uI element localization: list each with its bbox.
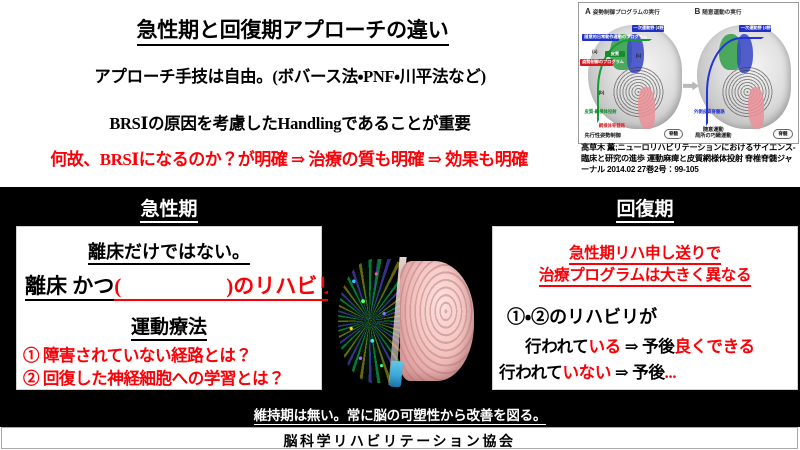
marker-b: (b) — [599, 90, 605, 95]
recovery-line-2-pre: 行われて — [525, 337, 588, 356]
tag-primary-motor-cortex: 一次運動野 (4野) — [632, 25, 664, 32]
recovery-line-3-pre: 行われて — [499, 363, 562, 382]
recovery-head-line-2: 治療プログラムは大きく異なる — [493, 263, 797, 285]
recovery-line-3-red-2: ... — [665, 363, 676, 382]
label-corticoreticular: 皮質-網様体投射 — [584, 109, 616, 115]
tag-postural-program: 姿勢制御のプログラム — [580, 59, 612, 66]
recovery-line-3-mid: ⇒ 予後 — [611, 363, 665, 382]
top-section: 急性期と回復期アプローチの違い アプローチ手技は自由。(ボバース法・PNF・川平… — [0, 0, 800, 187]
bottom-note-text: 維持期は無い。常に脳の可塑性から改善を図る。 — [254, 408, 547, 425]
figure-citation: 高草木 薫;ニューロリハビリテーションにおけるサイエンス-臨床と研究の進歩 運動… — [581, 143, 799, 176]
label-lateral-corticospinal: 外側皮質脊髄路 — [694, 109, 725, 115]
figure-panel-a-caption: A姿勢制御プログラムの実行 — [585, 7, 660, 16]
panel-b-letter: B — [695, 7, 701, 16]
acute-line-2-black: 離床 かつ — [25, 274, 114, 301]
recovery-line-1: ①・②のリハビリが — [507, 303, 657, 329]
footer-bar: 脳科学リハビリテーション協会 — [1, 427, 798, 449]
panel-b-caption-text: 随意運動の実行 — [702, 10, 741, 16]
intro-line-1: アプローチ手技は自由。(ボバース法・PNF・川平法など) — [10, 63, 570, 87]
recovery-line-3: 行われていない ⇒ 予後... — [499, 359, 676, 383]
acute-item-2: ② 回復した神経細胞への学習とは？ — [23, 365, 284, 389]
panel-b-spinal-cord-box: 脊髄 — [773, 129, 792, 139]
recovery-line-2: 行われている ⇒ 予後良くできる — [525, 333, 755, 357]
marker-a: (a) — [592, 49, 597, 54]
tag-voluntary-program: 随意的日常動作運動のプログラム — [582, 34, 619, 41]
tag-cortex: 皮質 — [605, 51, 624, 58]
recovery-line-2-red-1: いる — [588, 337, 620, 356]
bottom-note: 維持期は無い。常に脳の可塑性から改善を図る。 — [0, 404, 800, 424]
figure-panel-b-caption: B随意運動の実行 — [695, 7, 742, 16]
tag-primary-motor-cortex: 一次運動野 (4野) — [739, 25, 771, 32]
figure-panel-a: A姿勢制御プログラムの実行 随意的日常動作運動のプログラム 一次運動野 (4野)… — [579, 3, 689, 143]
intro-line-2: BRSⅠの原因を考慮したHandlingであることが重要 — [10, 110, 570, 134]
recovery-line-2-mid: ⇒ 予後 — [621, 337, 675, 356]
recovery-phase-heading: 回復期 — [492, 194, 798, 221]
recovery-line-2-red-2: 良くできる — [674, 337, 754, 356]
brainstem-highlight — [389, 361, 403, 388]
acute-line-1: 離床だけではない。 — [17, 238, 321, 264]
anatomical-brain-half — [400, 261, 474, 381]
recovery-line-3-red-1: いない — [562, 363, 611, 382]
recovery-phase-box: 急性期リハ申し送りで 治療プログラムは大きく異なる ①・②のリハビリが 行われて… — [492, 226, 798, 390]
panel-a-spinal-cord-box: 脊髄 — [664, 129, 683, 139]
acute-phase-box: 離床だけではない。 離床 かつ( )のリハビリ 運動療法 ① 障害されていない経… — [16, 226, 322, 390]
marker-c: (c) — [636, 53, 641, 58]
figure-panel-b: B随意運動の実行 一次運動野 (4野) 外側皮質脊髄路 随意運動 局所の巧緻運動… — [689, 3, 799, 143]
footer-organization-name: 脳科学リハビリテーション協会 — [2, 431, 797, 450]
center-brain-image — [328, 243, 486, 403]
recovery-head-line-2-text: 治療プログラムは大きく異なる — [539, 267, 751, 287]
recovery-phase-heading-text: 回復期 — [616, 199, 673, 223]
label-reticulospinal: 網様体脊髄路 — [599, 123, 625, 129]
page-title: 急性期と回復期アプローチの違い — [20, 14, 565, 44]
slide-canvas: 急性期と回復期アプローチの違い アプローチ手技は自由。(ボバース法・PNF・川平… — [0, 0, 800, 450]
panel-b-bottom-label: 随意運動 局所の巧緻運動 — [695, 127, 731, 139]
panel-a-caption-text: 姿勢制御プログラムの実行 — [593, 10, 660, 16]
acute-line-3-text: 運動療法 — [131, 317, 207, 341]
acute-item-1: ① 障害されていない経路とは？ — [23, 342, 252, 366]
recovery-head-line-1: 急性期リハ申し送りで — [493, 241, 797, 263]
panel-a-letter: A — [585, 7, 591, 16]
recovery-head-line-1-text: 急性期リハ申し送りで — [569, 245, 721, 265]
acute-line-2-red: ( )のリハビリ — [114, 274, 338, 301]
panel-a-bottom-label: 先行性姿勢制御 — [584, 133, 620, 139]
acute-phase-heading: 急性期 — [16, 194, 322, 221]
brain-pathway-figure: A姿勢制御プログラムの実行 随意的日常動作運動のプログラム 一次運動野 (4野)… — [578, 2, 799, 144]
acute-line-3: 運動療法 — [17, 312, 321, 339]
acute-phase-heading-text: 急性期 — [140, 199, 197, 223]
acute-line-1-text: 離床だけではない。 — [88, 242, 250, 265]
page-title-text: 急性期と回復期アプローチの違い — [137, 18, 449, 46]
acute-line-2: 離床 かつ( )のリハビリ — [25, 270, 317, 300]
emphasis-line: 何故、BRSⅠになるのか？が明確 ⇒ 治療の質も明確 ⇒ 効果も明確 — [0, 145, 578, 170]
